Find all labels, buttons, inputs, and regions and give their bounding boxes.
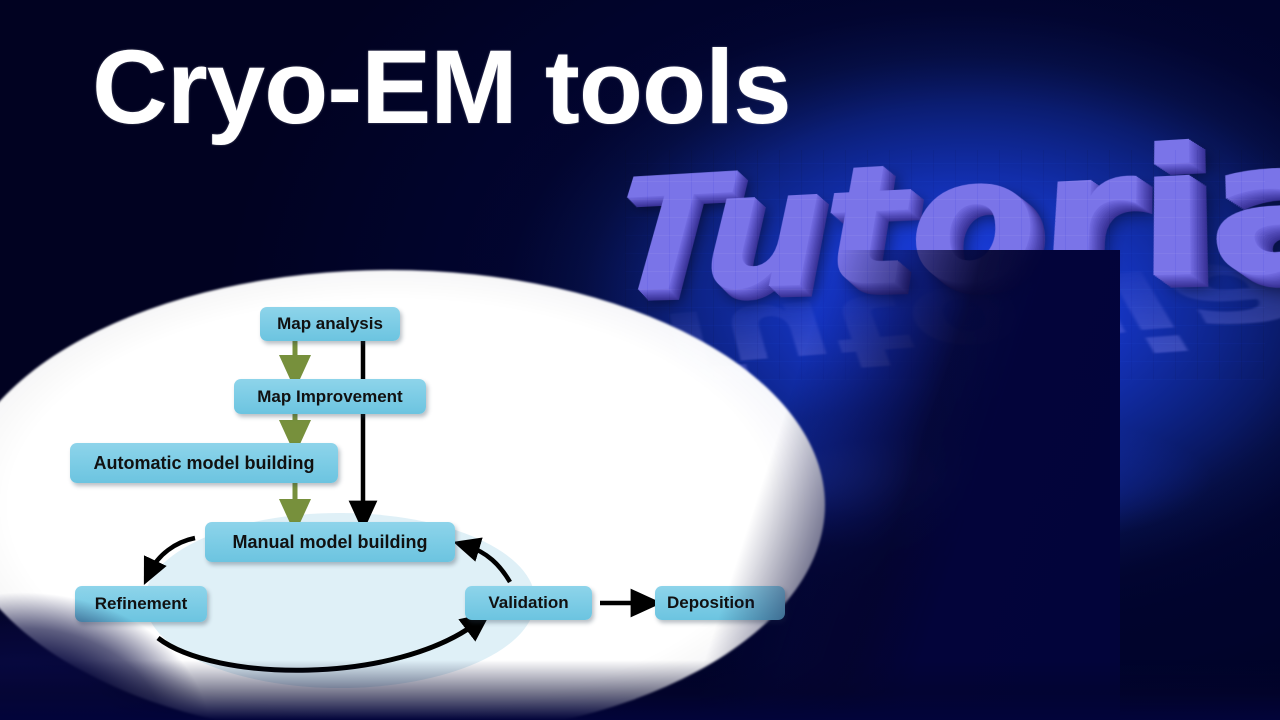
edge-refinement-validation [158, 622, 478, 670]
slide-canvas: Tutorial Tutorial Cryo-EM tools [0, 0, 1280, 720]
page-title: Cryo-EM tools [92, 35, 791, 140]
node-deposition[interactable]: Deposition [655, 586, 785, 620]
diagram-arrows [0, 270, 900, 720]
node-map-improvement[interactable]: Map Improvement [234, 379, 426, 414]
node-refinement[interactable]: Refinement [75, 586, 207, 622]
workflow-diagram: Map analysis Map Improvement Automatic m… [0, 270, 900, 720]
edge-validation-manual [467, 546, 510, 582]
node-map-analysis[interactable]: Map analysis [260, 307, 400, 341]
node-automatic-model-building[interactable]: Automatic model building [70, 443, 338, 483]
node-manual-model-building[interactable]: Manual model building [205, 522, 455, 562]
edge-manual-refinement [150, 538, 195, 572]
node-validation[interactable]: Validation [465, 586, 592, 620]
